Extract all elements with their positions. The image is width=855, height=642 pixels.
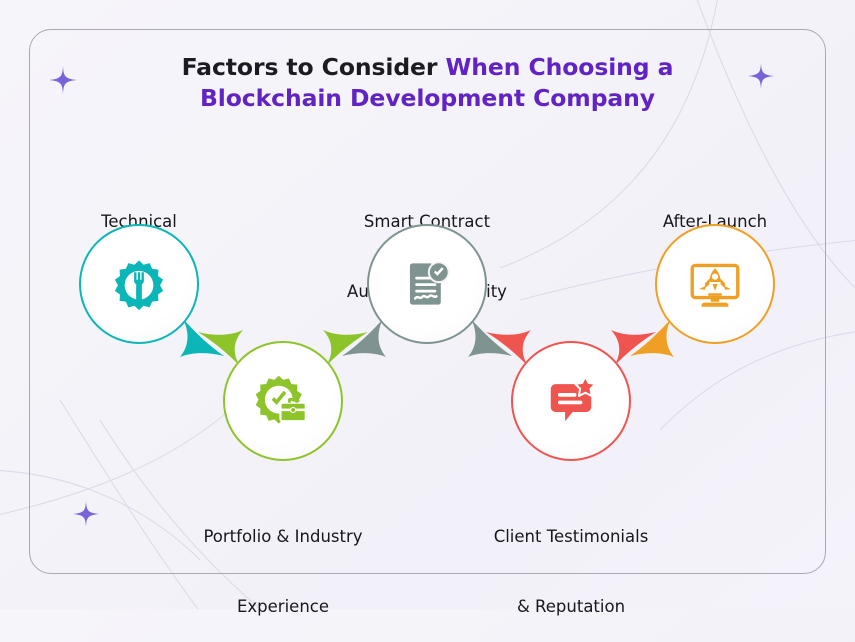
- flow-node-after-launch-support[interactable]: [655, 224, 775, 344]
- gear-check-briefcase-icon: [254, 372, 312, 430]
- flow-node-smart-contract-auditing-security[interactable]: [367, 224, 487, 344]
- document-check-icon: [398, 255, 456, 313]
- flow-node-label-portfolio-industry-experience: Portfolio & Industry Experience: [158, 478, 408, 642]
- flow-node-portfolio-industry-experience[interactable]: [223, 341, 343, 461]
- gear-wrench-icon: [110, 255, 168, 313]
- chat-star-icon: [542, 372, 600, 430]
- flow-node-label-client-testimonials-reputation: Client Testimonials & Reputation: [446, 478, 696, 642]
- flow-node-client-testimonials-reputation[interactable]: [511, 341, 631, 461]
- monitor-rocket-icon: [686, 255, 744, 313]
- flow-node-technical-expertise[interactable]: [79, 224, 199, 344]
